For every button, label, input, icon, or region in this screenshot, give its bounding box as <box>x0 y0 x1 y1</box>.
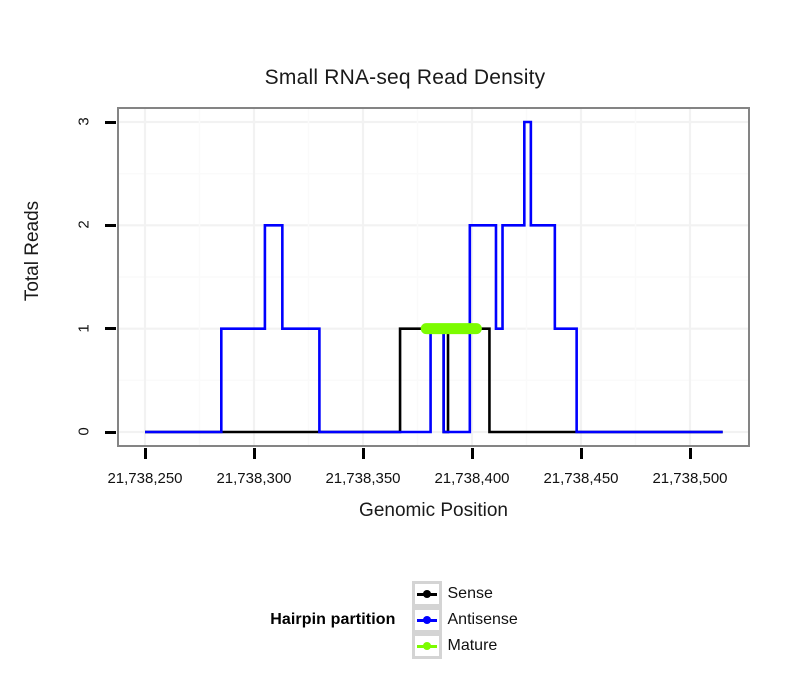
x-tick-mark <box>144 448 147 459</box>
legend-label: Mature <box>448 637 498 655</box>
y-tick-label: 3 <box>76 107 93 137</box>
gridlines <box>119 109 748 445</box>
chart-container: Small RNA-seq Read Density Total Reads G… <box>0 0 810 690</box>
legend-key-mature-icon <box>412 633 442 659</box>
legend-items: SenseAntisenseMature <box>412 581 540 659</box>
legend-dot-icon <box>423 616 431 624</box>
x-tick-mark <box>689 448 692 459</box>
legend-key-antisense-icon <box>412 607 442 633</box>
legend-item-mature[interactable]: Mature <box>412 633 532 659</box>
x-tick-mark <box>362 448 365 459</box>
legend-item-sense[interactable]: Sense <box>412 581 532 607</box>
x-tick-mark <box>253 448 256 459</box>
legend-label: Sense <box>448 585 493 603</box>
y-tick-mark <box>105 327 116 330</box>
x-tick-label: 21,738,500 <box>625 470 755 487</box>
y-tick-label: 2 <box>76 210 93 240</box>
legend-dot-icon <box>423 590 431 598</box>
x-tick-mark <box>580 448 583 459</box>
legend-label: Antisense <box>448 611 518 629</box>
chart-title: Small RNA-seq Read Density <box>0 66 810 90</box>
y-tick-mark <box>105 121 116 124</box>
legend-key-sense-icon <box>412 581 442 607</box>
y-tick-mark <box>105 224 116 227</box>
x-axis-title: Genomic Position <box>117 500 750 522</box>
plot-area <box>119 109 748 445</box>
y-axis-title: Total Reads <box>22 171 44 331</box>
legend-item-antisense[interactable]: Antisense <box>412 607 532 633</box>
x-tick-mark <box>471 448 474 459</box>
legend-title: Hairpin partition <box>270 611 395 629</box>
y-tick-label: 1 <box>76 313 93 343</box>
plot-panel <box>117 107 750 447</box>
legend-dot-icon <box>423 642 431 650</box>
y-tick-label: 0 <box>76 417 93 447</box>
legend: Hairpin partition SenseAntisenseMature <box>0 581 810 659</box>
y-tick-mark <box>105 431 116 434</box>
